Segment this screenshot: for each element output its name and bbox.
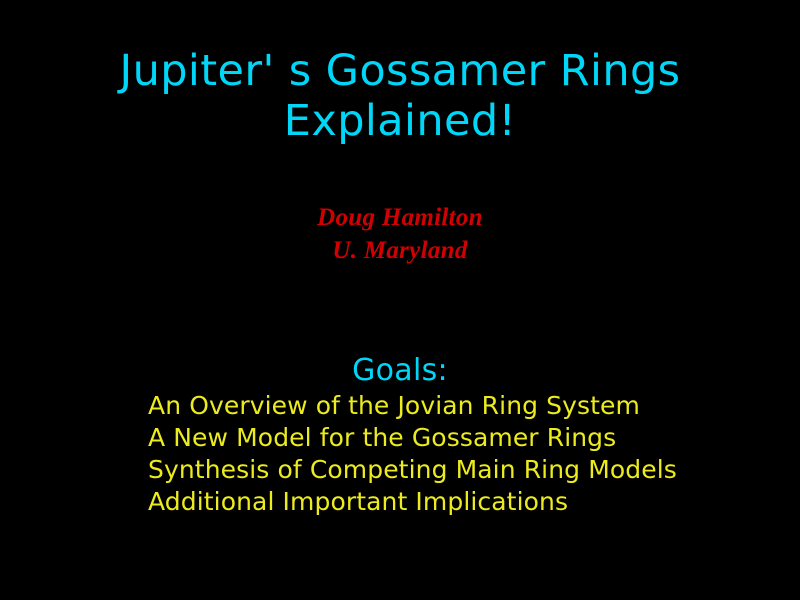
goals-list: An Overview of the Jovian Ring System A …	[148, 390, 788, 518]
author-affiliation: U. Maryland	[0, 234, 800, 267]
presentation-slide: Jupiter' s Gossamer Rings Explained! Dou…	[0, 0, 800, 600]
author-name: Doug Hamilton	[0, 201, 800, 234]
author-block: Doug Hamilton U. Maryland	[0, 201, 800, 267]
list-item: An Overview of the Jovian Ring System	[148, 390, 788, 422]
goals-heading: Goals:	[0, 353, 800, 389]
slide-title-line-2: Explained!	[0, 96, 800, 146]
list-item: Synthesis of Competing Main Ring Models	[148, 454, 788, 486]
slide-title-line-1: Jupiter' s Gossamer Rings	[0, 46, 800, 96]
list-item: A New Model for the Gossamer Rings	[148, 422, 788, 454]
slide-title: Jupiter' s Gossamer Rings Explained!	[0, 46, 800, 146]
list-item: Additional Important Implications	[148, 486, 788, 518]
